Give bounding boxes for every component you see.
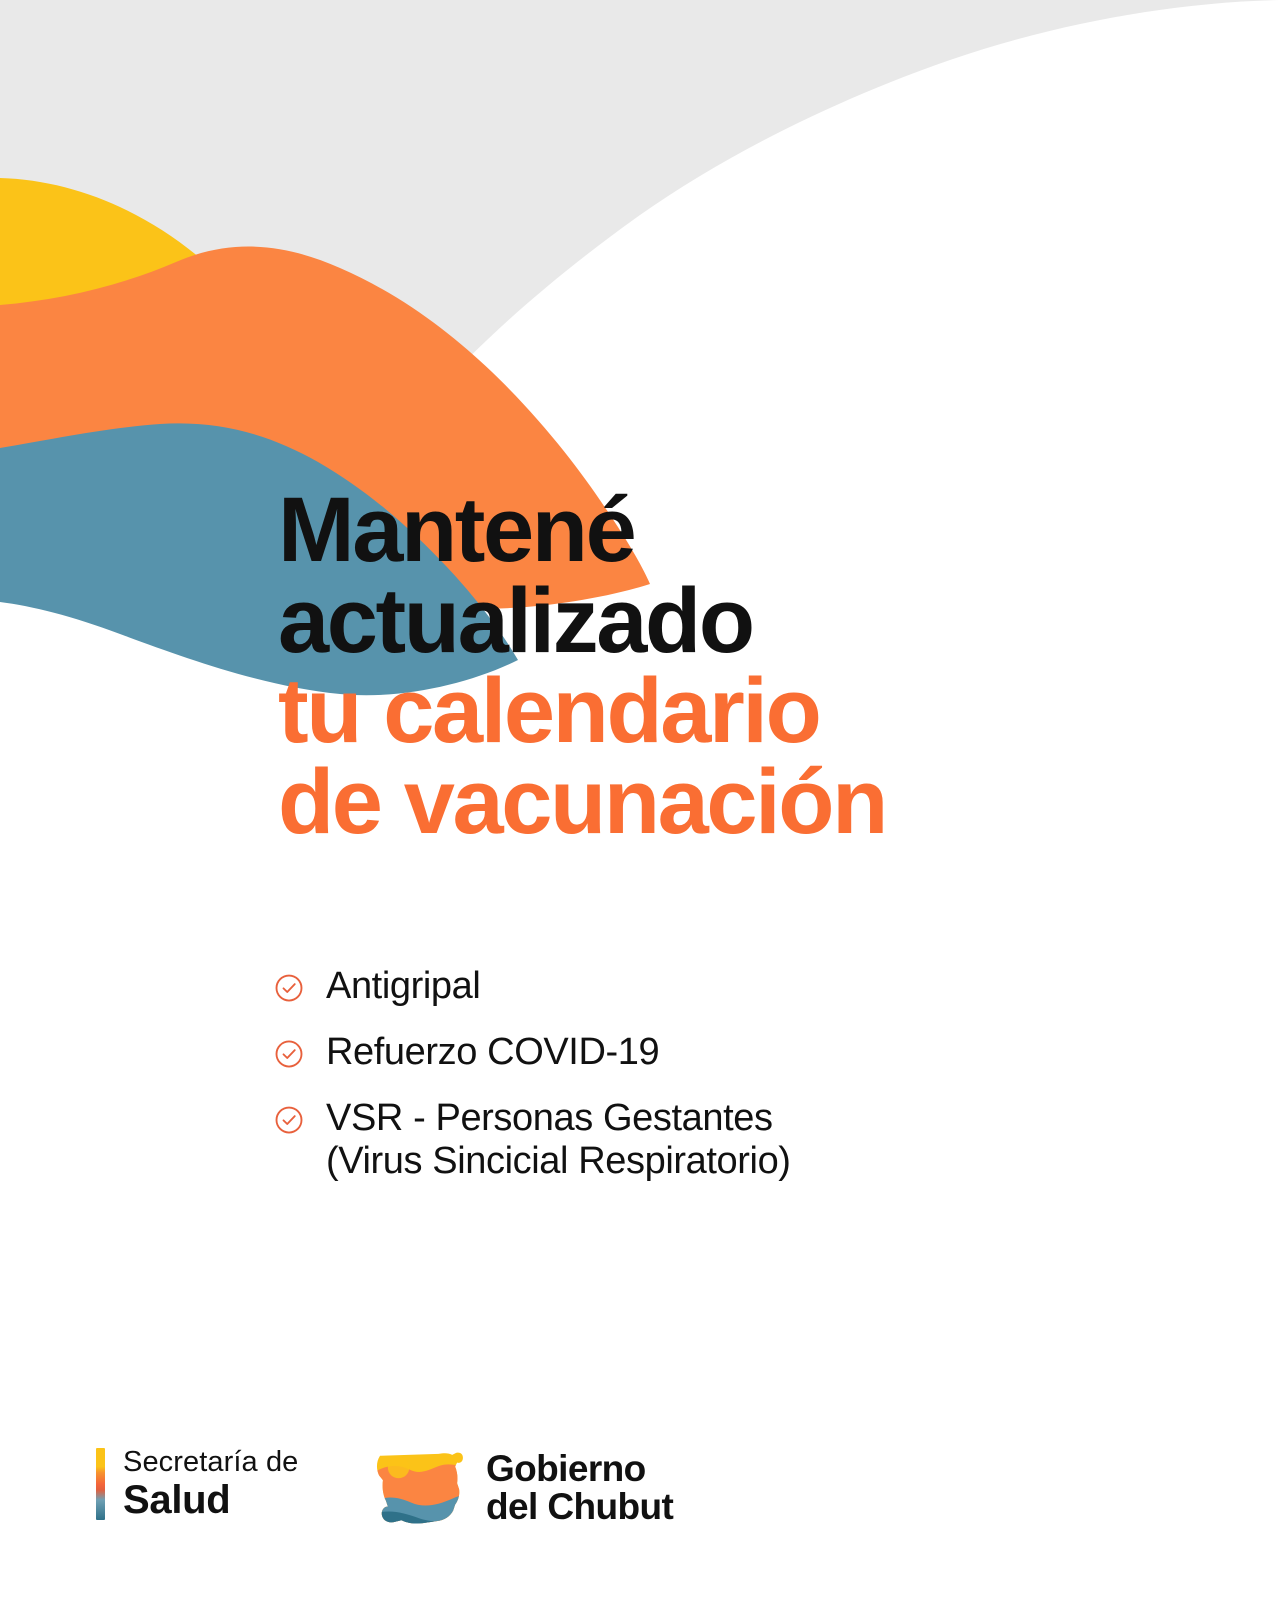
footer: Secretaría de Salud xyxy=(0,1440,1279,1550)
list-item: Refuerzo COVID-19 xyxy=(274,1031,1094,1074)
gobierno-line-2: del Chubut xyxy=(486,1488,673,1526)
check-circle-icon xyxy=(274,973,304,1003)
list-item-text-block: VSR - Personas Gestantes (Virus Sincicia… xyxy=(326,1097,791,1183)
headline-line-1: Mantené xyxy=(278,485,1038,576)
vaccine-checklist: Antigripal Refuerzo COVID-19 VSR - Perso… xyxy=(274,965,1094,1206)
list-item-label: Refuerzo COVID-19 xyxy=(326,1031,659,1074)
salud-logo-text: Secretaría de Salud xyxy=(123,1448,298,1520)
secretaria-de-salud-logo: Secretaría de Salud xyxy=(96,1448,298,1520)
chubut-map-icon xyxy=(372,1448,470,1528)
headline-line-2: actualizado xyxy=(278,576,1038,667)
check-circle-icon xyxy=(274,1105,304,1135)
list-item: VSR - Personas Gestantes (Virus Sincicia… xyxy=(274,1097,1094,1183)
list-item: Antigripal xyxy=(274,965,1094,1008)
gobierno-line-1: Gobierno xyxy=(486,1450,673,1488)
gobierno-del-chubut-logo: Gobierno del Chubut xyxy=(372,1448,673,1528)
headline-line-4: de vacunación xyxy=(278,757,1038,848)
list-item-label: Antigripal xyxy=(326,965,480,1008)
poster-root: Mantené actualizado tu calendario de vac… xyxy=(0,0,1279,1600)
page-title: Mantené actualizado tu calendario de vac… xyxy=(278,485,1038,847)
gobierno-logo-text: Gobierno del Chubut xyxy=(486,1450,673,1527)
headline-line-3: tu calendario xyxy=(278,666,1038,757)
salud-line-1: Secretaría de xyxy=(123,1448,298,1477)
tricolor-bar-icon xyxy=(96,1448,105,1520)
map-sun-accent xyxy=(388,1457,409,1478)
check-circle-icon xyxy=(274,1039,304,1069)
salud-line-2: Salud xyxy=(123,1480,298,1520)
list-item-sublabel: (Virus Sincicial Respiratorio) xyxy=(326,1140,791,1183)
list-item-label: VSR - Personas Gestantes xyxy=(326,1097,773,1139)
